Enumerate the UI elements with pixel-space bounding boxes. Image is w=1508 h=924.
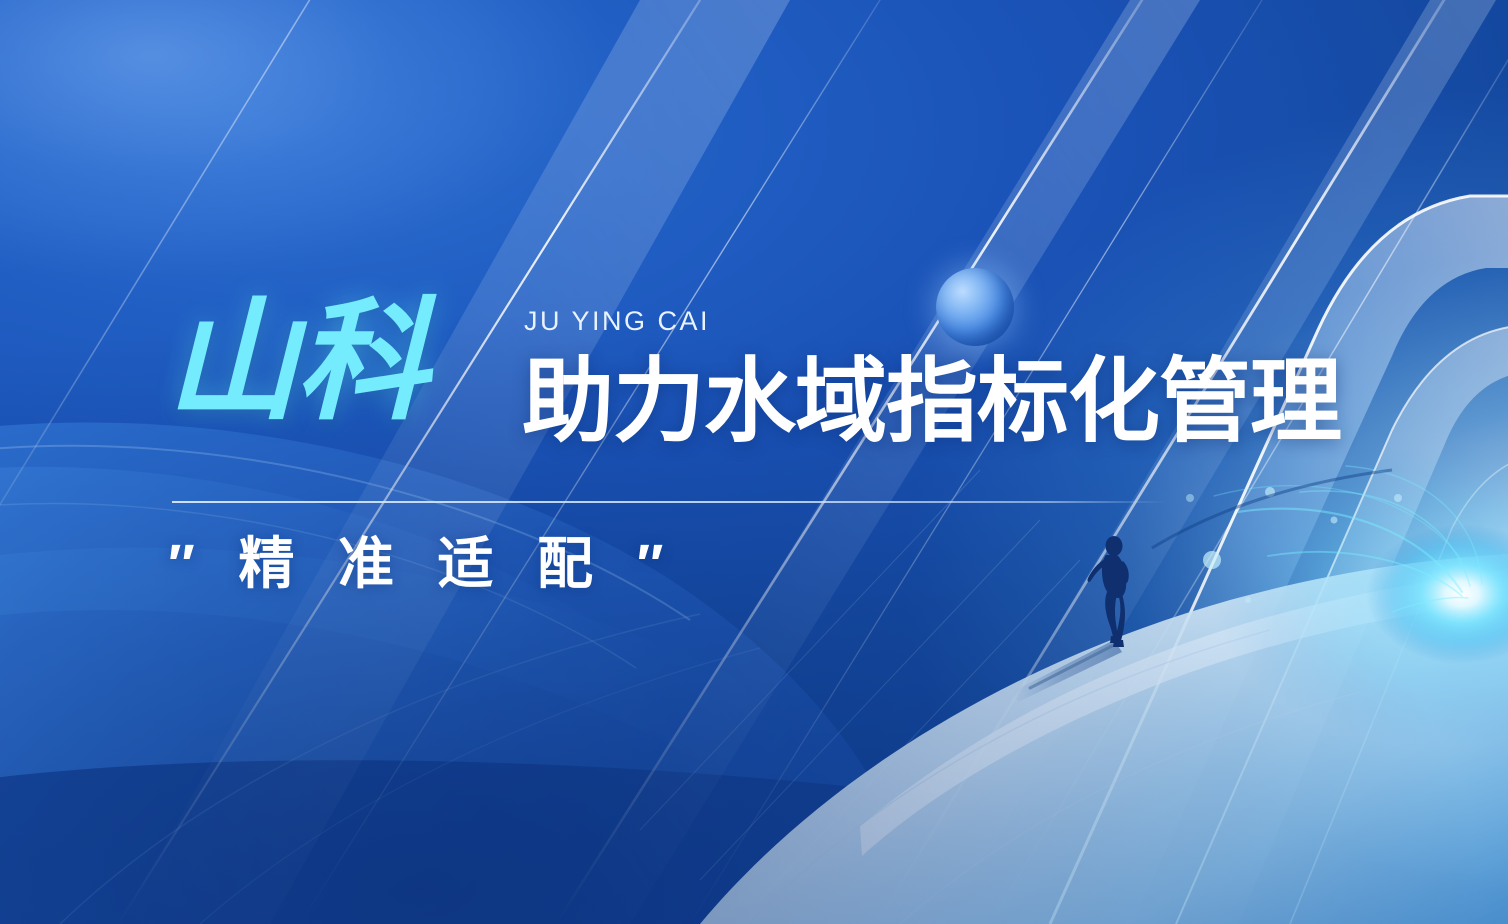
brand-logo-cn: 山科 [166,296,426,428]
headline-title: 助力水域指标化管理 [522,356,1341,448]
horizontal-divider [172,501,1166,503]
banner-image: 山科 JU YING CAI 助力水域指标化管理 ″ 精 准 适 配 ″ [0,0,1508,924]
brand-pinyin: JU YING CAI [524,306,710,337]
banner-text-content: 山科 JU YING CAI 助力水域指标化管理 ″ 精 准 适 配 ″ [0,0,1508,924]
subtitle-slogan: ″ 精 准 适 配 ″ [168,536,677,592]
